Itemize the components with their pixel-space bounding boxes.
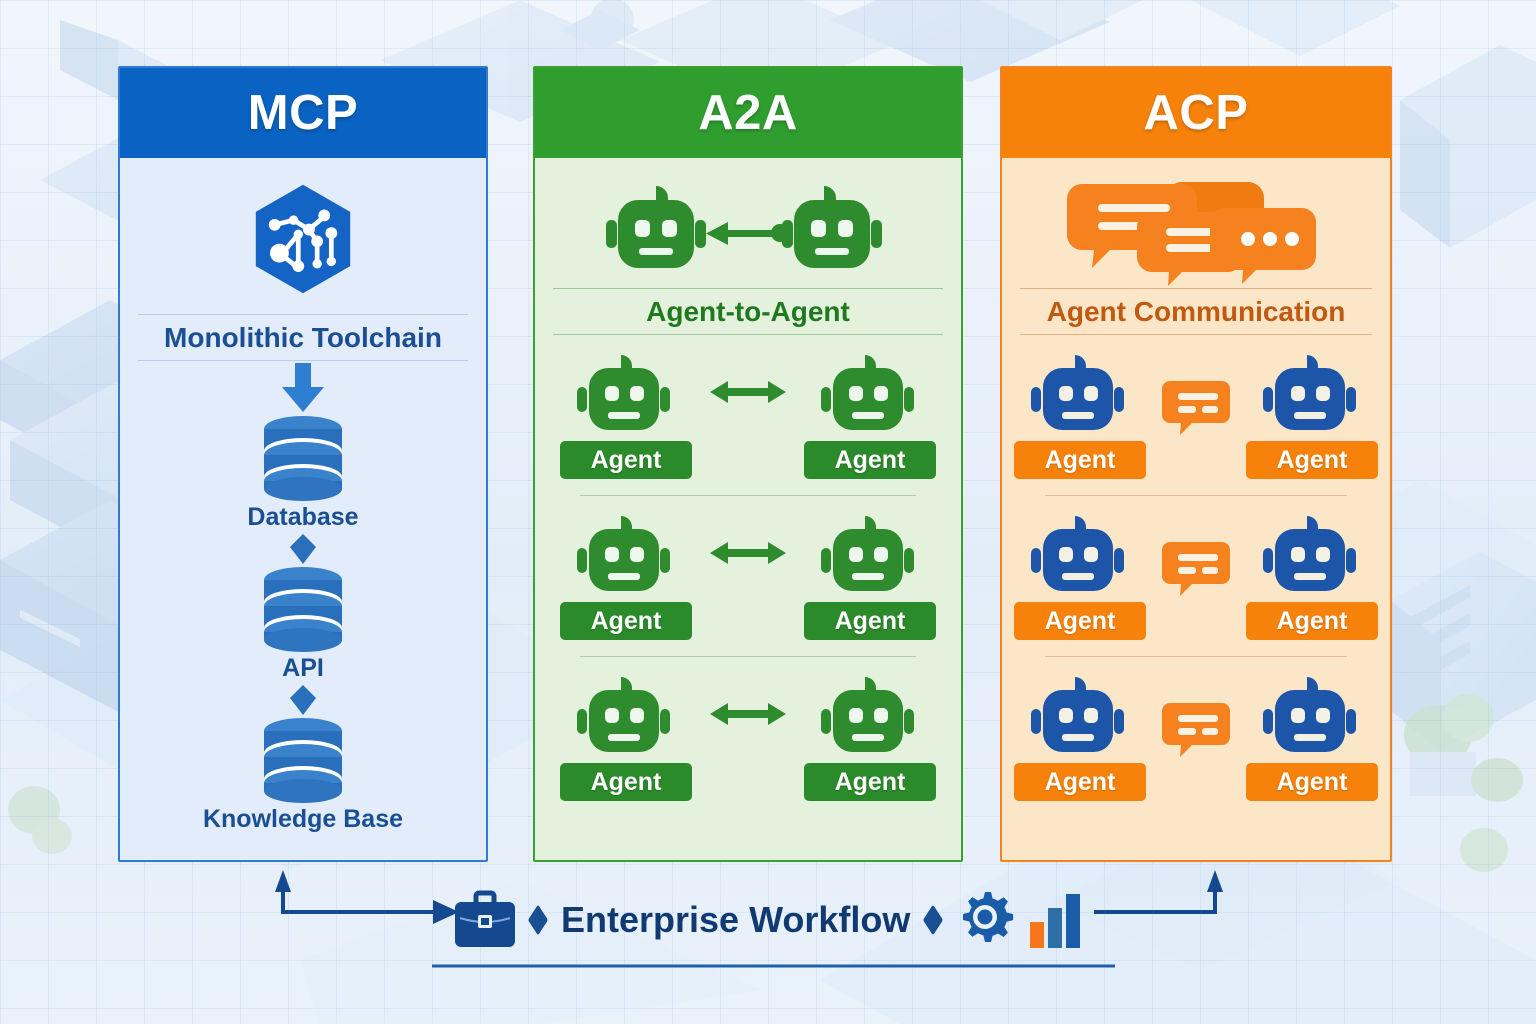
robot-icon [1025,675,1135,757]
acp-agent-right[interactable]: Agent [1246,514,1378,640]
mcp-chain-label-0: Database [247,503,358,532]
a2a-agent-row[interactable]: Agent [553,496,943,656]
mcp-chain-label-2: Knowledge Base [203,805,403,834]
arrow-down-small-icon [283,683,323,717]
robot-icon [571,353,681,435]
speech-bubble-icon [1164,675,1228,757]
a2a-agent-left[interactable]: Agent [560,675,692,801]
acp-agent-left[interactable]: Agent [1014,353,1146,479]
agent-badge: Agent [1246,602,1378,640]
mcp-chain-label-1: API [282,654,324,683]
acp-agent-row[interactable]: Agent [1020,657,1372,817]
arrow-down-small-icon [283,532,323,566]
mcp-caption: Monolithic Toolchain [138,314,468,361]
acp-agent-right[interactable]: Agent [1246,353,1378,479]
agent-badge: Agent [1246,441,1378,479]
diamond-separator-icon [528,905,548,936]
column-acp-body: Agent Communication [1002,158,1390,860]
column-a2a-body: Agent-to-Agent [535,158,961,860]
column-mcp[interactable]: MCP [118,66,488,862]
a2a-agent-left[interactable]: Agent [560,514,692,640]
column-acp[interactable]: ACP [1000,66,1392,862]
column-mcp-header: MCP [120,68,486,158]
database-cylinder-icon [256,717,350,803]
database-cylinder-icon [256,566,350,652]
acp-agent-row[interactable]: Agent [1020,496,1372,656]
agent-badge: Agent [560,441,692,479]
agent-badge: Agent [804,602,936,640]
diagram-canvas: MCP [0,0,1536,1024]
workflow-label: Enterprise Workflow [561,899,910,941]
agent-badge: Agent [560,602,692,640]
robot-icon [1257,675,1367,757]
column-a2a-header: A2A [535,68,961,158]
robot-icon [571,514,681,596]
double-arrow-icon [710,675,786,727]
agent-badge: Agent [1014,441,1146,479]
enterprise-workflow-band: Enterprise Workflow [0,862,1536,1024]
robot-icon [1257,353,1367,435]
gear-icon [956,891,1014,949]
a2a-agent-right[interactable]: Agent [804,514,936,640]
robot-icon [1257,514,1367,596]
arrow-up-into-mcp [283,886,437,912]
column-acp-header: ACP [1002,68,1390,158]
speech-bubbles-icon [1076,182,1316,274]
diamond-separator-icon [923,905,943,936]
robot-icon [815,353,925,435]
arrow-down-icon [280,363,326,413]
a2a-agent-right[interactable]: Agent [804,353,936,479]
a2a-agent-row[interactable]: Agent [553,657,943,817]
mcp-chain: Database [203,415,403,834]
a2a-agent-left[interactable]: Agent [560,353,692,479]
column-a2a[interactable]: A2A [533,66,963,862]
a2a-agent-right[interactable]: Agent [804,675,936,801]
robot-icon [1025,353,1135,435]
double-arrow-icon [710,353,786,405]
robot-icon [571,675,681,757]
speech-bubble-icon [1164,353,1228,435]
double-arrow-icon [710,514,786,566]
workflow-content[interactable]: Enterprise Workflow [455,884,1086,956]
network-hexagon-icon [244,180,362,298]
a2a-caption: Agent-to-Agent [553,288,943,335]
acp-agent-left[interactable]: Agent [1014,675,1146,801]
column-mcp-body: Monolithic Toolchain [120,158,486,860]
agent-badge: Agent [804,763,936,801]
agent-badge: Agent [1014,602,1146,640]
acp-caption: Agent Communication [1020,288,1372,335]
acp-agent-left[interactable]: Agent [1014,514,1146,640]
agent-badge: Agent [1014,763,1146,801]
acp-agent-row[interactable]: Agent [1020,335,1372,495]
agent-badge: Agent [804,441,936,479]
agent-badge: Agent [560,763,692,801]
a2a-agent-row[interactable]: Agent [553,335,943,495]
briefcase-icon [455,893,515,947]
robot-icon [815,514,925,596]
acp-agent-right[interactable]: Agent [1246,675,1378,801]
database-cylinder-icon [256,415,350,501]
speech-bubble-icon [1164,514,1228,596]
robot-icon [1025,514,1135,596]
robot-icon [815,675,925,757]
arrow-up-into-acp [1094,886,1215,912]
two-robots-icon [598,182,898,274]
agent-badge: Agent [1246,763,1378,801]
bar-chart-icon [1028,892,1086,948]
